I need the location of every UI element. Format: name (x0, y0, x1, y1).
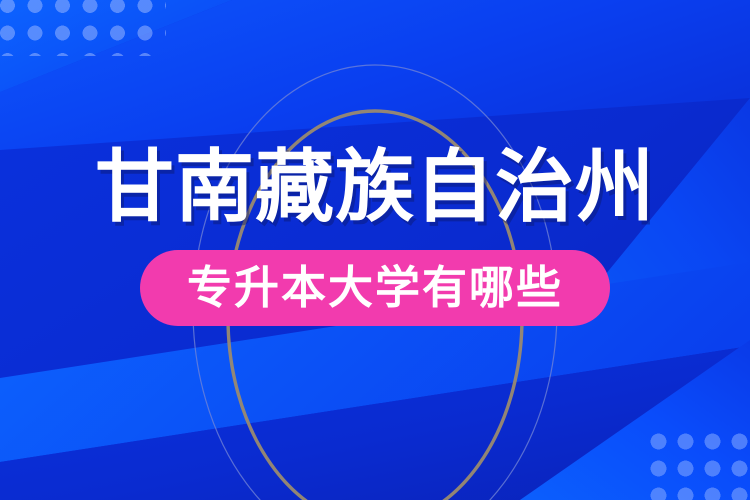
main-title: 甘南藏族自治州 (95, 147, 655, 226)
banner-content: 甘南藏族自治州 专升本大学有哪些 (0, 0, 750, 500)
subtitle-pill: 专升本大学有哪些 (140, 250, 610, 326)
promo-banner: 甘南藏族自治州 专升本大学有哪些 (0, 0, 750, 500)
subtitle-text: 专升本大学有哪些 (187, 265, 563, 310)
